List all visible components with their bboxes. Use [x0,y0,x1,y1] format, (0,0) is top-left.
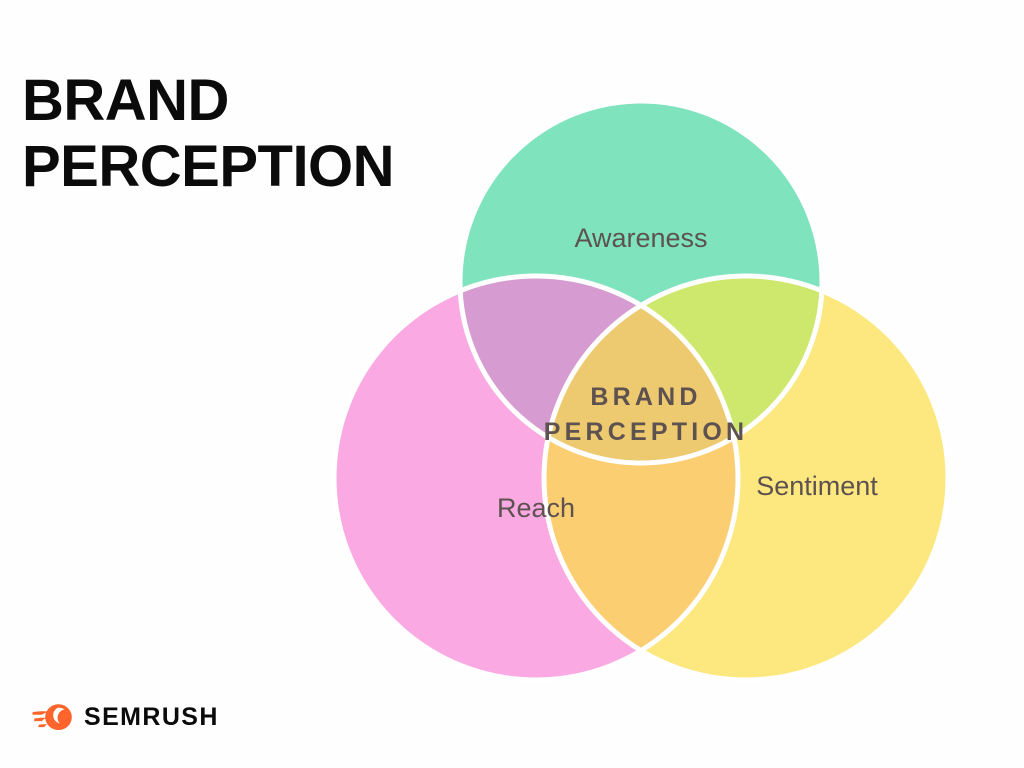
venn-label-reach: Reach [497,493,575,523]
venn-center-label-line-2: PERCEPTION [544,418,749,446]
slide-canvas: BRAND PERCEPTION [0,0,1024,768]
semrush-logo-text: SEMRUSH [84,705,219,730]
semrush-logo: SEMRUSH [32,700,219,734]
venn-label-sentiment: Sentiment [756,471,878,501]
venn-label-awareness: Awareness [574,223,707,253]
venn-diagram: Awareness Reach Sentiment BRAND PERCEPTI… [320,88,970,688]
venn-center-label-line-1: BRAND [590,383,701,411]
semrush-comet-icon [32,703,74,731]
venn-diagram-svg: Awareness Reach Sentiment BRAND PERCEPTI… [320,88,970,688]
